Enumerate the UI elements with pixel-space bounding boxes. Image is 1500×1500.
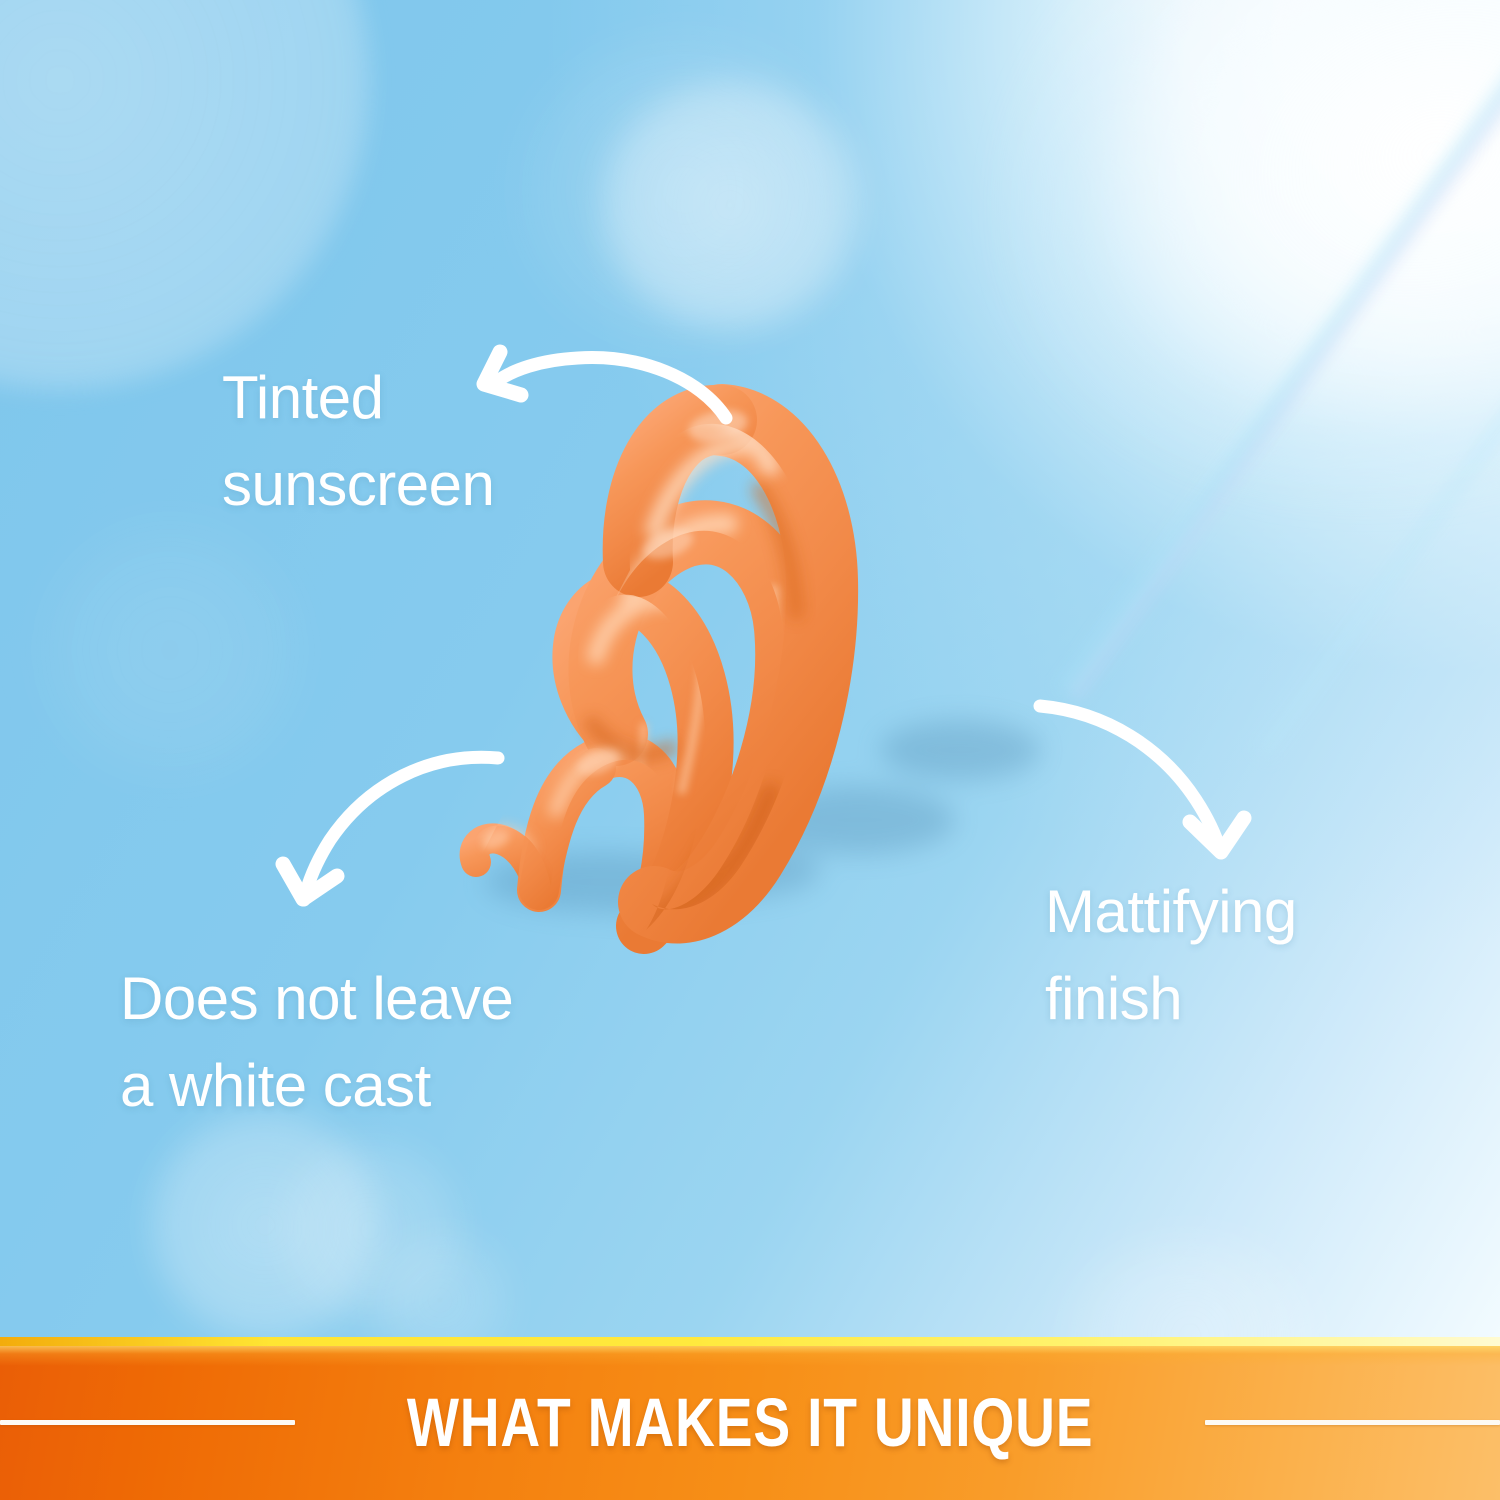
sky-background bbox=[0, 0, 1500, 1500]
callout-label-tinted-sunscreen: Tinted sunscreen bbox=[222, 354, 494, 528]
product-feature-graphic: Tinted sunscreen Does not leave a white … bbox=[0, 0, 1500, 1500]
bottom-banner: WHAT MAKES IT UNIQUE bbox=[0, 1337, 1500, 1500]
banner-rule-right bbox=[1205, 1420, 1500, 1425]
banner-content: WHAT MAKES IT UNIQUE bbox=[0, 1337, 1500, 1500]
callout-label-no-white-cast: Does not leave a white cast bbox=[120, 955, 513, 1129]
banner-title: WHAT MAKES IT UNIQUE bbox=[407, 1383, 1094, 1462]
callout-label-mattifying-finish: Mattifying finish bbox=[1045, 868, 1297, 1042]
banner-rule-left bbox=[0, 1420, 295, 1425]
